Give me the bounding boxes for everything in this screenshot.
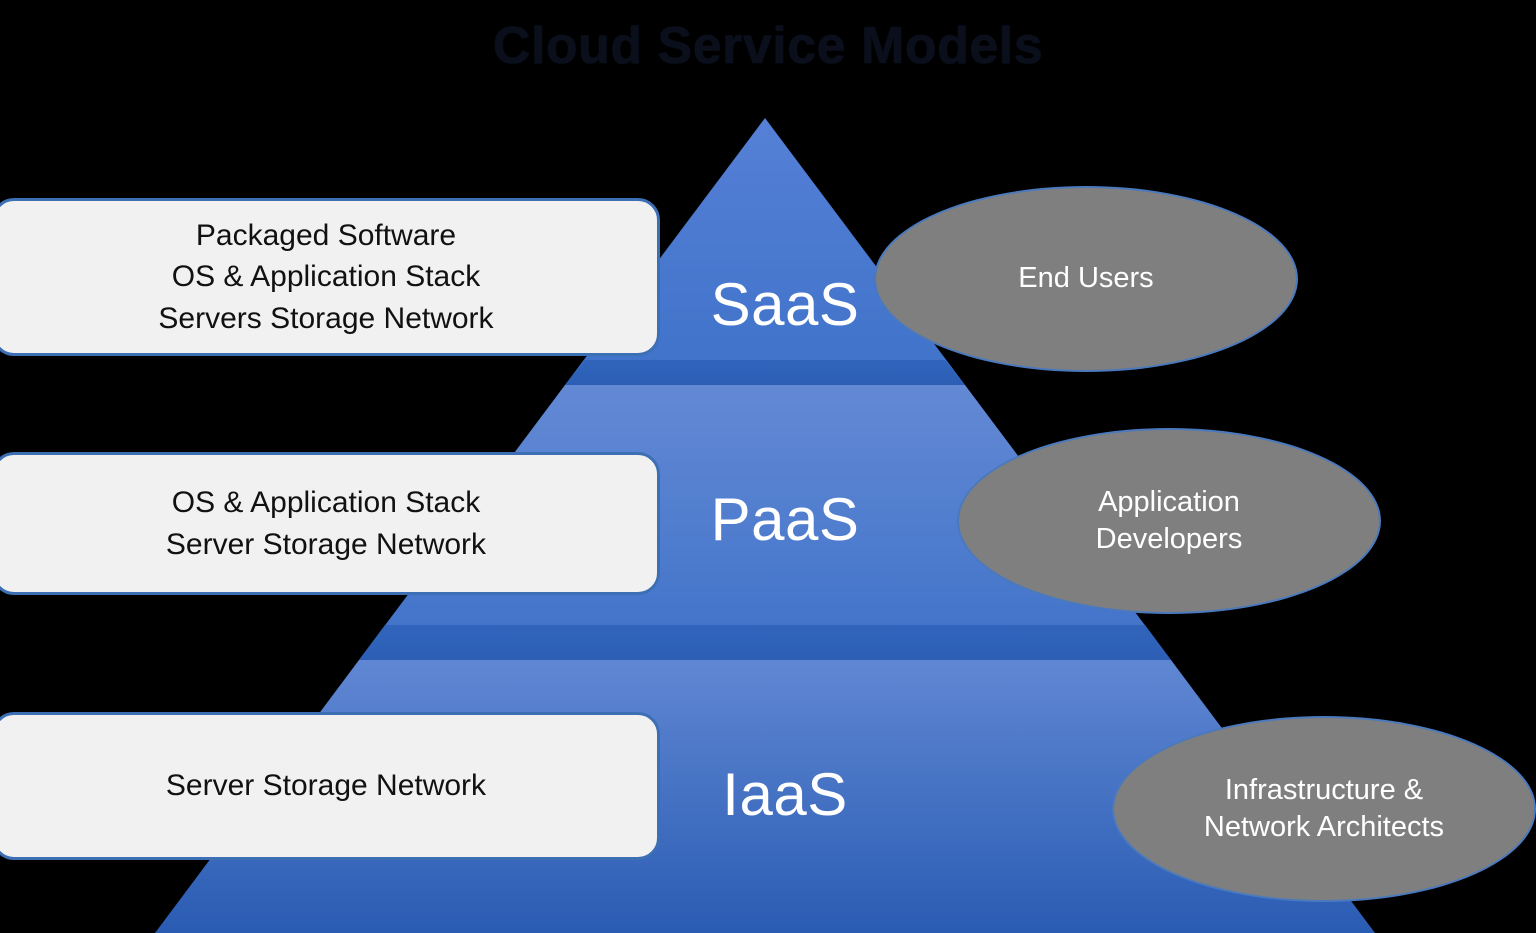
pyramid-divider-paas — [359, 625, 1171, 660]
info-line: Server Storage Network — [166, 765, 486, 806]
audience-ellipse-infrastructure-network-architects: Infrastructure & Network Architects — [1112, 716, 1536, 902]
tier-label-iaas: IaaS — [660, 760, 910, 829]
audience-line: Infrastructure & — [1225, 772, 1423, 809]
audience-ellipse-application-developers: Application Developers — [957, 428, 1381, 614]
info-line: OS & Application Stack — [172, 482, 481, 523]
diagram-canvas: Cloud Service Models — [0, 0, 1536, 933]
audience-line: End Users — [1018, 260, 1153, 297]
pyramid-divider-saas — [565, 360, 965, 385]
info-line: OS & Application Stack — [172, 256, 481, 297]
info-line: Server Storage Network — [166, 524, 486, 565]
info-box-iaas: Server Storage Network — [0, 712, 660, 860]
audience-line: Developers — [1096, 521, 1243, 558]
audience-ellipse-end-users: End Users — [874, 186, 1298, 372]
info-box-saas: Packaged Software OS & Application Stack… — [0, 198, 660, 356]
tier-label-paas: PaaS — [660, 485, 910, 554]
page-title: Cloud Service Models — [0, 16, 1536, 76]
tier-label-saas: SaaS — [660, 270, 910, 339]
audience-line: Application — [1098, 484, 1240, 521]
info-box-paas: OS & Application Stack Server Storage Ne… — [0, 452, 660, 595]
info-line: Servers Storage Network — [158, 298, 493, 339]
audience-line: Network Architects — [1204, 809, 1444, 846]
info-line: Packaged Software — [196, 215, 456, 256]
